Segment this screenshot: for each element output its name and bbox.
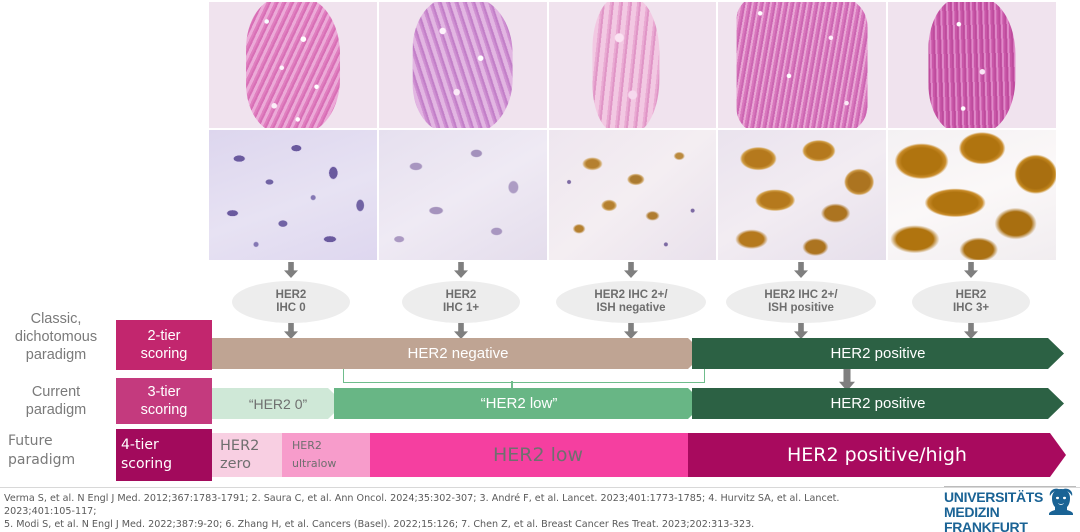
category-ellipse-her2-ihc-1plus: HER2 IHC 1+: [402, 281, 520, 323]
tier-label-line2: scoring: [141, 401, 188, 419]
footer-divider: [0, 487, 1080, 488]
bar-label-line2: zero: [220, 455, 251, 473]
down-arrow-icon-cat2-to-row1: [624, 323, 638, 339]
micrograph-ihc-1plus: [379, 130, 547, 260]
bar-label: HER2 positive/high: [787, 444, 967, 466]
micrograph-grid: [209, 2, 1056, 258]
micrograph-ihc-0: [209, 130, 377, 260]
micrograph-he-ihc2-ish-pos: [718, 2, 886, 128]
micrograph-he-ihc3: [888, 2, 1056, 128]
bar-her2-positive-high-4tier: HER2 positive/high: [688, 433, 1066, 477]
micrograph-he-ihc2-ish-neg: [549, 2, 717, 128]
university-logo: UNIVERSITÄTS MEDIZIN FRANKFURT GOETHE-UN…: [944, 486, 1076, 530]
tier-label-line1: 2-tier: [147, 327, 180, 345]
row-label-classic-paradigm: Classic, dichotomous paradigm: [0, 310, 112, 364]
goethe-portrait-icon: [1046, 486, 1076, 518]
bar-her2-zero-3tier: “HER2 0”: [212, 388, 344, 419]
category-label-line1: HER2 IHC 2+/: [594, 289, 667, 303]
category-ellipse-her2-ihc-0: HER2 IHC 0: [232, 281, 350, 323]
row-label-line2: dichotomous: [0, 328, 112, 346]
bar-label: HER2 positive: [830, 395, 925, 412]
micrograph-ihc-2plus-neg: [549, 130, 717, 260]
row-label-current-paradigm: Current paradigm: [0, 383, 112, 419]
row-label-line1: Classic,: [0, 310, 112, 328]
bar-label-line2: ultralow: [292, 455, 336, 473]
row-label-line1: Current: [0, 383, 112, 401]
references-line-1: Verma S, et al. N Engl J Med. 2012;367:1…: [4, 492, 904, 518]
micrograph-ihc-2plus-pos: [718, 130, 886, 260]
bar-her2-negative-2tier: HER2 negative: [212, 338, 704, 369]
tier-label-line2: scoring: [141, 345, 188, 363]
down-arrow-icon-cat1-to-row1: [454, 323, 468, 339]
category-label-line1: HER2: [443, 289, 479, 303]
tier-box-3-tier-scoring: 3-tier scoring: [116, 378, 212, 424]
down-arrow-icon-to-cat-1: [454, 262, 468, 278]
down-arrow-icon-positive-link: [839, 369, 855, 391]
logo-line-1: UNIVERSITÄTS: [944, 490, 1044, 505]
row-label-line3: paradigm: [0, 346, 112, 364]
row-label-line2: paradigm: [8, 451, 120, 470]
down-arrow-icon-to-cat-4: [964, 262, 978, 278]
down-arrow-icon-to-cat-0: [284, 262, 298, 278]
category-ellipse-her2-ihc-2plus-ish-negative: HER2 IHC 2+/ ISH negative: [556, 281, 706, 323]
bar-her2-positive-3tier: HER2 positive: [692, 388, 1064, 419]
row-label-line2: paradigm: [0, 401, 112, 419]
tier-box-2-tier-scoring: 2-tier scoring: [116, 320, 212, 370]
micrograph-he-ihc0: [209, 2, 377, 128]
category-label-line1: HER2: [953, 289, 989, 303]
category-ellipse-her2-ihc-3plus: HER2 IHC 3+: [912, 281, 1030, 323]
bar-her2-low-3tier: “HER2 low”: [334, 388, 704, 419]
category-label-line2: IHC 0: [276, 302, 307, 316]
category-label-line2: IHC 1+: [443, 302, 479, 316]
category-label-line2: ISH positive: [764, 302, 837, 316]
logo-line-2: MEDIZIN FRANKFURT: [944, 505, 1044, 532]
down-arrow-icon-to-cat-2: [624, 262, 638, 278]
bar-label: HER2 positive: [830, 345, 925, 362]
category-label-line1: HER2: [276, 289, 307, 303]
slide-root: HER2 IHC 0 HER2 IHC 1+ HER2 IHC 2+/ ISH …: [0, 0, 1080, 532]
bar-label: “HER2 0”: [249, 396, 307, 412]
micrograph-ihc-3plus: [888, 130, 1056, 260]
tier-label-line1: 4-tier: [121, 436, 159, 455]
down-arrow-icon-cat3-to-row1: [794, 323, 808, 339]
bar-label: HER2 negative: [408, 345, 509, 362]
references-line-2: 5. Modi S, et al. N Engl J Med. 2022;387…: [4, 518, 904, 531]
references-text: Verma S, et al. N Engl J Med. 2012;367:1…: [4, 492, 904, 531]
bar-her2-low-4tier: HER2 low: [370, 433, 706, 477]
bar-label: “HER2 low”: [481, 395, 558, 412]
bar-label-line1: HER2: [292, 437, 322, 455]
bar-her2-positive-2tier: HER2 positive: [692, 338, 1064, 369]
green-bracket: [343, 369, 705, 383]
row-label-future-paradigm: Future paradigm: [8, 432, 120, 470]
category-label-line2: ISH negative: [594, 302, 667, 316]
tier-label-line2: scoring: [121, 455, 172, 474]
down-arrow-icon-cat4-to-row1: [964, 323, 978, 339]
category-label-line1: HER2 IHC 2+/: [764, 289, 837, 303]
bar-label: HER2 low: [493, 444, 583, 466]
row-label-line1: Future: [8, 432, 120, 451]
bar-label-line1: HER2: [220, 437, 259, 455]
down-arrow-icon-cat0-to-row1: [284, 323, 298, 339]
micrograph-he-ihc1: [379, 2, 547, 128]
logo-wordmark: UNIVERSITÄTS MEDIZIN FRANKFURT GOETHE-UN…: [944, 490, 1044, 532]
tier-box-4-tier-scoring: 4-tier scoring: [116, 429, 212, 481]
category-ellipse-her2-ihc-2plus-ish-positive: HER2 IHC 2+/ ISH positive: [726, 281, 876, 323]
down-arrow-icon-to-cat-3: [794, 262, 808, 278]
tier-label-line1: 3-tier: [147, 383, 180, 401]
category-label-line2: IHC 3+: [953, 302, 989, 316]
